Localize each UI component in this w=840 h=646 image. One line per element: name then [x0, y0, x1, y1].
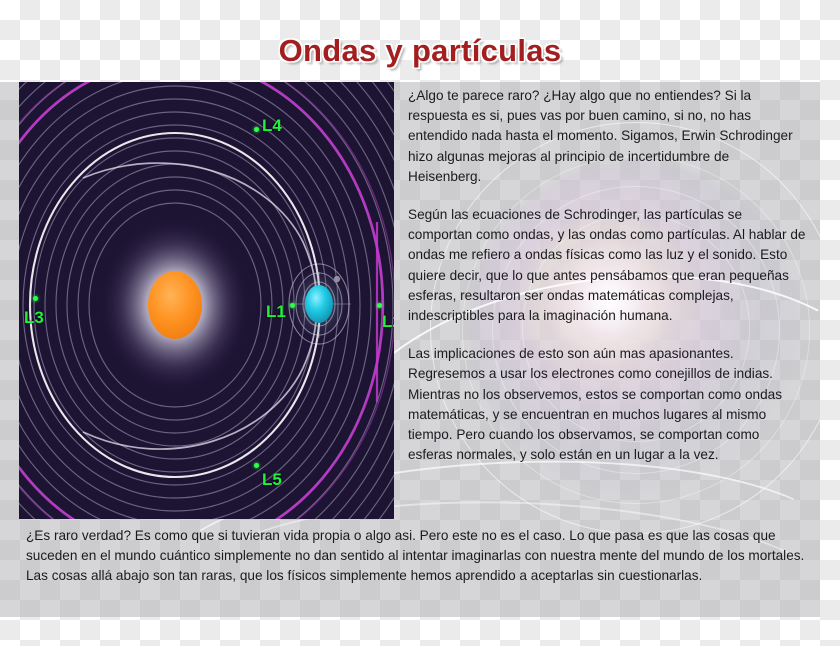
lagrange-point-dot-l3: [33, 296, 38, 301]
diagram-svg: [19, 82, 394, 519]
lagrange-point-dot-l1: [290, 303, 295, 308]
lagrange-point-dot-l2: [377, 303, 382, 308]
body-paragraph-1: ¿Algo te parece raro? ¿Hay algo que no e…: [408, 86, 806, 187]
lagrange-label-l4: L4: [262, 116, 282, 136]
lagrange-label-l5: L5: [262, 470, 282, 490]
lagrange-label-l1: L1: [266, 302, 286, 322]
body-paragraph-2: Según las ecuaciones de Schrodinger, las…: [408, 205, 806, 326]
lagrange-label-l3: L3: [24, 308, 44, 328]
lagrange-point-dot-l5: [254, 463, 259, 468]
lagrange-point-dot-l4: [254, 127, 259, 132]
slide-canvas: Ondas y partículas: [0, 0, 840, 646]
footer-text-block: ¿Es raro verdad? Es como que si tuvieran…: [26, 526, 818, 587]
lagrange-label-l2: L2: [382, 312, 394, 332]
body-paragraph-3: Las implicaciones de esto son aún mas ap…: [408, 344, 806, 465]
body-text-column: ¿Algo te parece raro? ¿Hay algo que no e…: [408, 86, 806, 483]
lagrange-points-diagram: L4 L3 L1 L2 L5: [19, 82, 394, 519]
page-title: Ondas y partículas: [0, 33, 840, 69]
footer-paragraph: ¿Es raro verdad? Es como que si tuvieran…: [26, 526, 818, 587]
